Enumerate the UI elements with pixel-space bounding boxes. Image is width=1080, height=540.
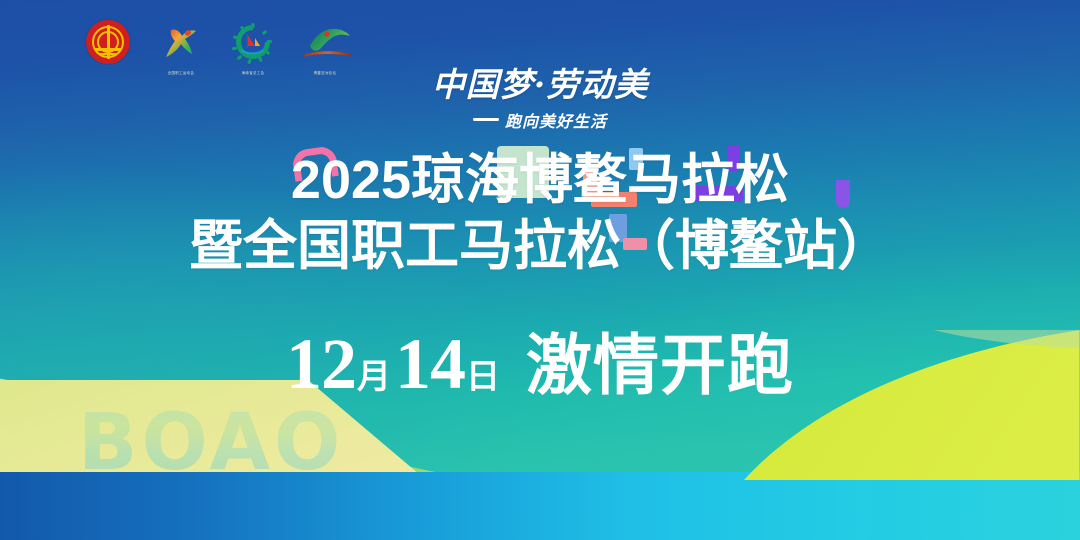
sponsor-logo-row: 全国职工运动会 xyxy=(86,20,348,72)
event-day-number: 14 xyxy=(395,324,465,404)
runner-figure-icon xyxy=(158,20,204,66)
gear-boat-icon xyxy=(230,20,276,66)
event-title-line-2-text: 暨全国职工马拉松（博鳌站） xyxy=(189,216,891,276)
accent-chip-violet-drop-2 xyxy=(836,180,850,208)
event-slogan: 激情开跑 xyxy=(526,328,794,402)
acftu-logo xyxy=(86,20,132,66)
hainan-federation-caption: 海南省总工会 xyxy=(242,70,265,75)
bird-wave-icon xyxy=(302,20,354,66)
national-workers-games-caption: 全国职工运动会 xyxy=(168,70,195,75)
boao-watermark: BOAO xyxy=(78,404,344,482)
event-month-number: 12 xyxy=(286,324,356,404)
event-date-line: 12月14日激情开跑 xyxy=(0,312,1080,408)
emblem-rule xyxy=(473,118,499,121)
event-title-block: 2025琼海博鳌马拉松 暨全国职工马拉松（博鳌站） xyxy=(0,150,1080,277)
national-workers-games-logo: 全国职工运动会 xyxy=(158,20,204,66)
event-title-line-1: 2025琼海博鳌马拉松 xyxy=(291,150,789,210)
event-day-unit: 日 xyxy=(466,357,500,397)
event-month-unit: 月 xyxy=(357,357,391,397)
qionghai-boao-logo: 博鳌亚洲论坛 xyxy=(302,20,348,66)
campaign-emblem: 中国梦·劳动美 跑向美好生活 xyxy=(410,68,670,132)
event-title-line-2: 暨全国职工马拉松（博鳌站） xyxy=(189,216,891,276)
emblem-main-text: 中国梦·劳动美 xyxy=(410,68,670,103)
emblem-subtitle-row: 跑向美好生活 xyxy=(410,108,670,132)
emblem-subtitle: 跑向美好生活 xyxy=(505,108,607,132)
hainan-federation-logo: 海南省总工会 xyxy=(230,20,276,66)
qionghai-boao-caption: 博鳌亚洲论坛 xyxy=(314,70,337,75)
event-poster: BOAO BOAO xyxy=(0,0,1080,540)
event-title-line-1-text: 2025琼海博鳌马拉松 xyxy=(291,150,789,210)
